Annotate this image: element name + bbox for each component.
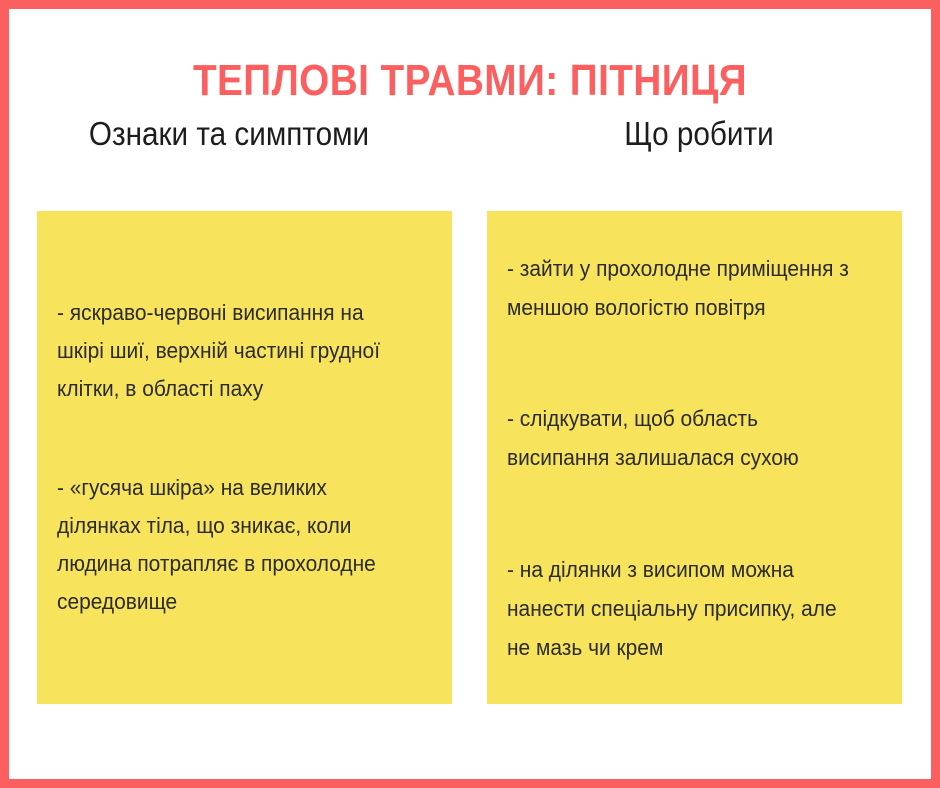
column-header-what-to-do: Що робити [490, 113, 908, 155]
list-item: - на ділянки з висипом можна нанести спе… [507, 550, 858, 667]
panel-what-to-do: - зайти у прохолодне приміщення з меншою… [487, 211, 902, 704]
list-item: - слідкувати, щоб область висипання зали… [507, 399, 858, 477]
list-item: - яскраво-червоні висипання на шкірі шиї… [57, 294, 408, 408]
list-item: - «гусяча шкіра» на великих ділянках тіл… [57, 469, 408, 621]
panels-container: - яскраво-червоні висипання на шкірі шиї… [37, 211, 902, 704]
column-headers: Ознаки та симптоми Що робити [9, 113, 931, 155]
poster-root: ТЕПЛОВІ ТРАВМИ: ПІТНИЦЯ Ознаки та симпто… [0, 0, 940, 788]
panel-signs-symptoms: - яскраво-червоні висипання на шкірі шиї… [37, 211, 452, 704]
list-item: - зайти у прохолодне приміщення з меншою… [507, 249, 858, 327]
column-header-signs-symptoms: Ознаки та симптоми [20, 113, 438, 155]
page-title: ТЕПЛОВІ ТРАВМИ: ПІТНИЦЯ [64, 54, 875, 108]
